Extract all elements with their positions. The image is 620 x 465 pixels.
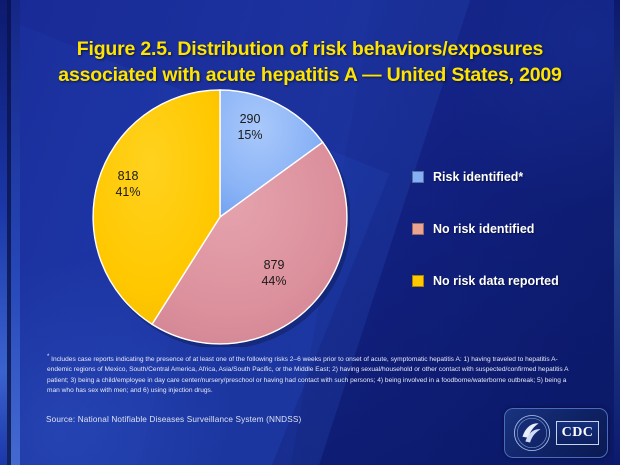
legend-swatch-icon	[412, 275, 424, 287]
left-accent-stripe	[0, 0, 7, 465]
legend-label: Risk identified*	[433, 170, 523, 184]
footnote-text: Includes case reports indicating the pre…	[47, 356, 568, 394]
legend-item-no-risk-identified: No risk identified	[412, 222, 610, 236]
legend-swatch-icon	[412, 171, 424, 183]
pie-label-percent: 44%	[246, 273, 302, 289]
slide-title: Figure 2.5. Distribution of risk behavio…	[24, 36, 596, 88]
pie-label-value: 818	[100, 168, 156, 184]
pie-label-value: 290	[222, 111, 278, 127]
pie-label-no-risk-data-reported: 818 41%	[100, 168, 156, 200]
left-accent-stripe	[11, 0, 20, 465]
pie-label-no-risk-identified: 879 44%	[246, 257, 302, 289]
source-line: Source: National Notifiable Diseases Sur…	[46, 415, 301, 424]
legend-swatch-icon	[412, 223, 424, 235]
legend-label: No risk data reported	[433, 274, 559, 288]
chart-legend: Risk identified* No risk identified No r…	[412, 170, 610, 326]
cdc-wordmark-text: CDC	[562, 425, 594, 441]
pie-label-percent: 41%	[100, 184, 156, 200]
slide-title-line-2: associated with acute hepatitis A — Unit…	[24, 62, 596, 88]
hhs-seal-icon	[513, 414, 551, 452]
legend-item-risk-identified: Risk identified*	[412, 170, 610, 184]
legend-item-no-risk-data-reported: No risk data reported	[412, 274, 610, 288]
pie-chart-svg	[92, 89, 350, 347]
pie-chart: 290 15% 879 44% 818 41%	[92, 89, 350, 347]
right-accent-stripe	[614, 0, 620, 465]
slide-canvas: Figure 2.5. Distribution of risk behavio…	[0, 0, 620, 465]
pie-label-risk-identified: 290 15%	[222, 111, 278, 143]
cdc-logo: CDC	[504, 408, 608, 458]
cdc-wordmark: CDC	[556, 421, 599, 445]
slide-title-line-1: Figure 2.5. Distribution of risk behavio…	[24, 36, 596, 62]
legend-label: No risk identified	[433, 222, 534, 236]
left-accent-stripe	[7, 0, 11, 465]
pie-label-percent: 15%	[222, 127, 278, 143]
footnote: * Includes case reports indicating the p…	[47, 352, 575, 396]
pie-label-value: 879	[246, 257, 302, 273]
